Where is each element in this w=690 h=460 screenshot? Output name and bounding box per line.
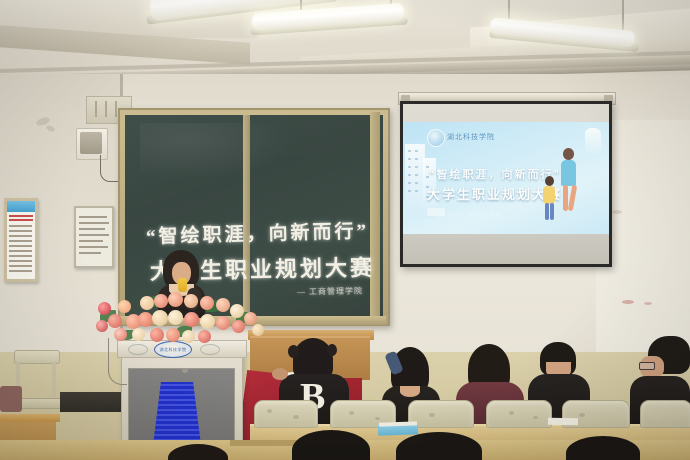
flower-arrangement (96, 286, 266, 348)
blackboard-right-frame (370, 112, 380, 320)
slide-tag-block (427, 208, 445, 216)
screen-lower-blank (403, 234, 609, 264)
auditorium-seat[interactable] (640, 400, 690, 428)
presentation-slide: 湖北科技学院 “智绘职涯，向新而行” 大学生职业规划大赛 主办：学生工作部 (403, 122, 609, 240)
audience-hair-curl (327, 344, 337, 356)
audience-hand (272, 368, 288, 380)
audience-hair-curl (288, 345, 299, 358)
school-emblem-icon (427, 129, 445, 147)
slide-school-name: 湖北科技学院 (447, 132, 495, 142)
lecture-hall-photo: “智绘职涯，向新而行” 大学生职业规划大赛 — 工商管理学院 (0, 0, 690, 460)
blackboard-signature: — 工商管理学院 (297, 285, 363, 297)
slide-subtitle: 主办：学生工作部 (447, 210, 503, 219)
wall-scuff (612, 210, 622, 214)
auditorium-seat[interactable] (254, 400, 318, 428)
auditorium-seat[interactable] (486, 400, 552, 428)
side-bag (0, 386, 22, 412)
slide-building-art (405, 144, 425, 218)
slide-figure-art (542, 176, 557, 220)
blackboard-glare (140, 123, 295, 180)
podium-screw (182, 368, 188, 373)
side-chair-leg (52, 362, 56, 400)
paper-on-desk (548, 418, 578, 426)
projection-screen-icon: 湖北科技学院 “智绘职涯，向新而行” 大学生职业规划大赛 主办：学生工作部 (400, 101, 612, 267)
wall-speaker-icon (80, 132, 102, 154)
wall-notice-board-right (74, 206, 114, 268)
wall-mark (622, 300, 634, 304)
glasses-icon (639, 362, 655, 370)
slide-figure-art (559, 148, 579, 214)
wall-mark (644, 302, 652, 305)
side-desk-top (0, 414, 60, 422)
wall-notice-board-left (4, 198, 38, 282)
notice-header-band (7, 201, 35, 212)
auditorium-seat[interactable] (408, 400, 474, 428)
slide-cloud-art (585, 128, 601, 158)
audience-neck (400, 386, 420, 397)
projection-screen-surface: 湖北科技学院 “智绘职涯，向新而行” 大学生职业规划大赛 主办：学生工作部 (403, 104, 609, 264)
